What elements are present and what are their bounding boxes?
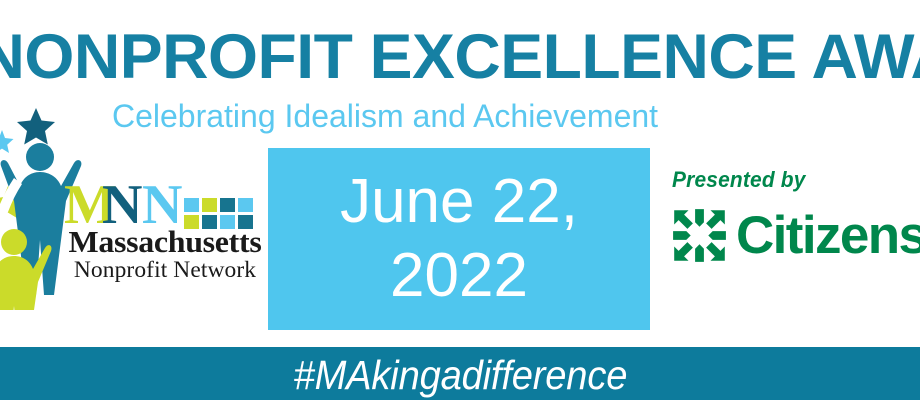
citizens-logo: Citizens (672, 208, 920, 263)
awards-promo-banner: NONPROFIT EXCELLENCE AWARDS Celebrating … (0, 0, 920, 400)
citizens-starburst-icon (672, 208, 727, 263)
event-date-line1: June 22, (340, 165, 578, 239)
mnn-org-name: Massachusetts Nonprofit Network (66, 226, 264, 283)
hashtag-text: #MAkingadifference (293, 352, 627, 398)
mnn-org-line2: Nonprofit Network (64, 257, 266, 283)
sponsor-block: Presented by (672, 168, 920, 263)
event-date: June 22, 2022 (326, 165, 592, 313)
mnn-wordmark: M N N Massac (64, 178, 264, 308)
mnn-letter-n1: N (102, 178, 142, 230)
event-date-box: June 22, 2022 (268, 148, 650, 330)
mnn-acronym: M N N (64, 178, 264, 230)
presented-by-label: Presented by (672, 168, 919, 192)
mnn-logo: M N N Massac (0, 100, 272, 310)
citizens-wordmark: Citizens (736, 208, 920, 263)
event-title: NONPROFIT EXCELLENCE AWARDS (0, 22, 920, 92)
hashtag-banner: #MAkingadifference (0, 347, 920, 400)
mnn-letter-n2: N (142, 178, 182, 230)
mnn-org-line1: Massachusetts (63, 226, 267, 257)
event-date-line2: 2022 (340, 239, 578, 313)
